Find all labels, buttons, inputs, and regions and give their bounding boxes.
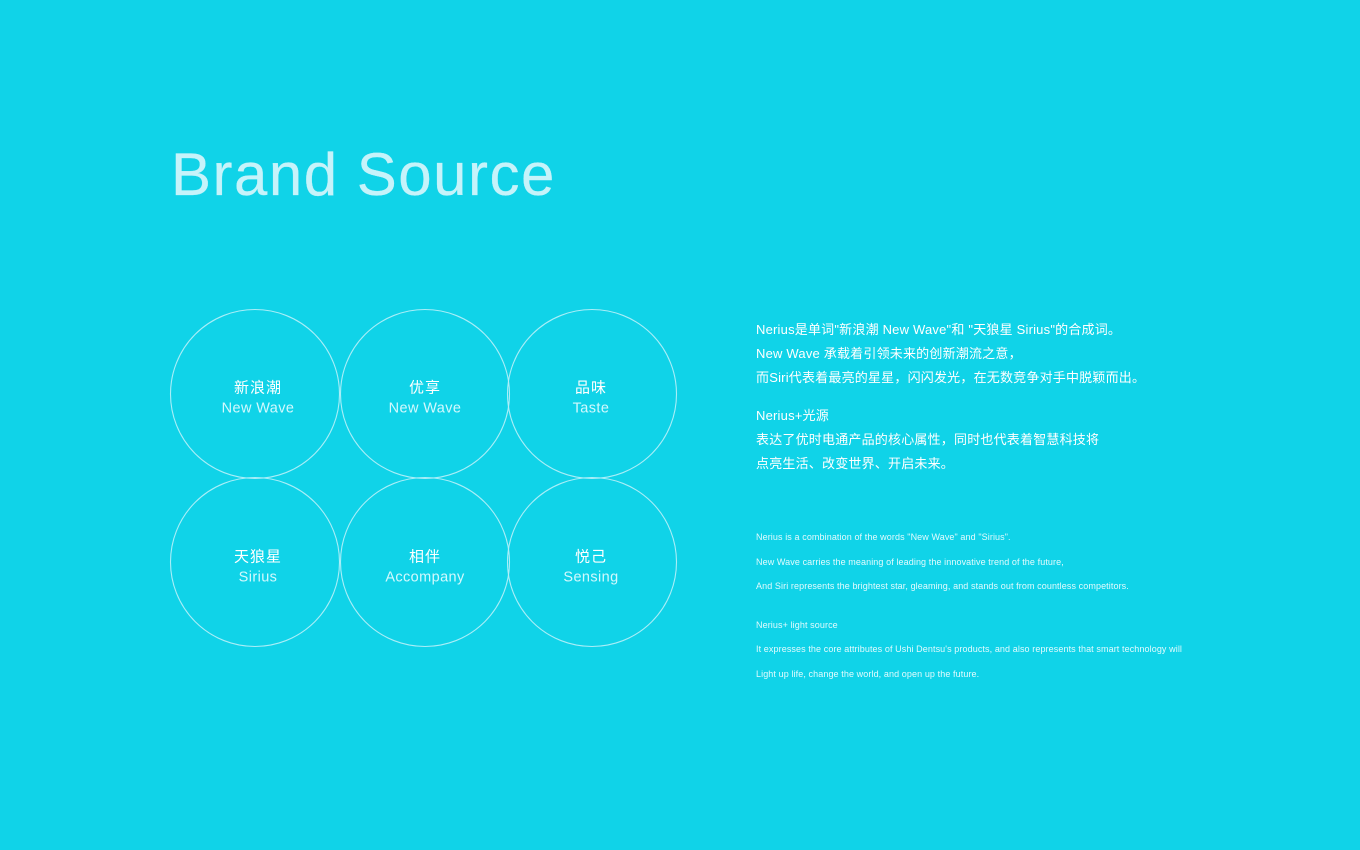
circle-label-2: 优享 New Wave xyxy=(340,379,510,420)
cn-b2-line-2: 表达了优时电通产品的核心属性，同时也代表着智慧科技将 xyxy=(756,428,1226,452)
cn-b2-line-3: 点亮生活、改变世界、开启未来。 xyxy=(756,452,1226,476)
circle-label-5-en: Accompany xyxy=(340,568,510,589)
circle-label-3-en: Taste xyxy=(506,399,676,420)
en-b1-line-3: And Siri represents the brightest star, … xyxy=(756,579,1226,595)
description-english: Nerius is a combination of the words "Ne… xyxy=(756,521,1226,692)
circle-label-1: 新浪潮 New Wave xyxy=(173,379,343,420)
circle-label-3: 品味 Taste xyxy=(506,379,676,420)
circle-label-3-cn: 品味 xyxy=(506,379,676,399)
paragraph-spacer xyxy=(756,390,1226,404)
paragraph-spacer xyxy=(756,604,1226,609)
venn-circle-cluster: 新浪潮 New Wave 优享 New Wave 品味 Taste 天狼星 Si… xyxy=(170,309,682,649)
circle-label-4: 天狼星 Sirius xyxy=(173,548,343,589)
circle-label-4-en: Sirius xyxy=(173,568,343,589)
circle-label-2-cn: 优享 xyxy=(340,379,510,399)
en-b1-line-1: Nerius is a combination of the words "Ne… xyxy=(756,530,1226,546)
page-title: Brand Source xyxy=(171,140,556,210)
en-b2-line-1: Nerius+ light source xyxy=(756,618,1226,634)
circle-label-5: 相伴 Accompany xyxy=(340,548,510,589)
en-b1-line-2: New Wave carries the meaning of leading … xyxy=(756,555,1226,571)
cn-b1-line-3: 而Siri代表着最亮的星星，闪闪发光，在无数竞争对手中脱颖而出。 xyxy=(756,366,1226,390)
cn-b2-line-1: Nerius+光源 xyxy=(756,404,1226,428)
circle-label-1-cn: 新浪潮 xyxy=(173,379,343,399)
circle-label-2-en: New Wave xyxy=(340,399,510,420)
circle-label-5-cn: 相伴 xyxy=(340,548,510,568)
circle-label-6-en: Sensing xyxy=(506,568,676,589)
venn-circles-svg xyxy=(170,309,682,649)
cn-b1-line-1: Nerius是单词"新浪潮 New Wave"和 "天狼星 Sirius"的合成… xyxy=(756,318,1226,342)
circle-label-6-cn: 悦己 xyxy=(506,548,676,568)
circle-label-4-cn: 天狼星 xyxy=(173,548,343,568)
en-b2-line-3: Light up life, change the world, and ope… xyxy=(756,667,1226,683)
circle-label-1-en: New Wave xyxy=(173,399,343,420)
circle-label-6: 悦己 Sensing xyxy=(506,548,676,589)
en-b2-line-2: It expresses the core attributes of Ushi… xyxy=(756,642,1226,658)
cn-b1-line-2: New Wave 承载着引领未来的创新潮流之意， xyxy=(756,342,1226,366)
slide-canvas: Brand Source 新浪潮 New Wave 优享 New Wave 品味… xyxy=(0,0,1360,850)
description-chinese: Nerius是单词"新浪潮 New Wave"和 "天狼星 Sirius"的合成… xyxy=(756,318,1226,476)
